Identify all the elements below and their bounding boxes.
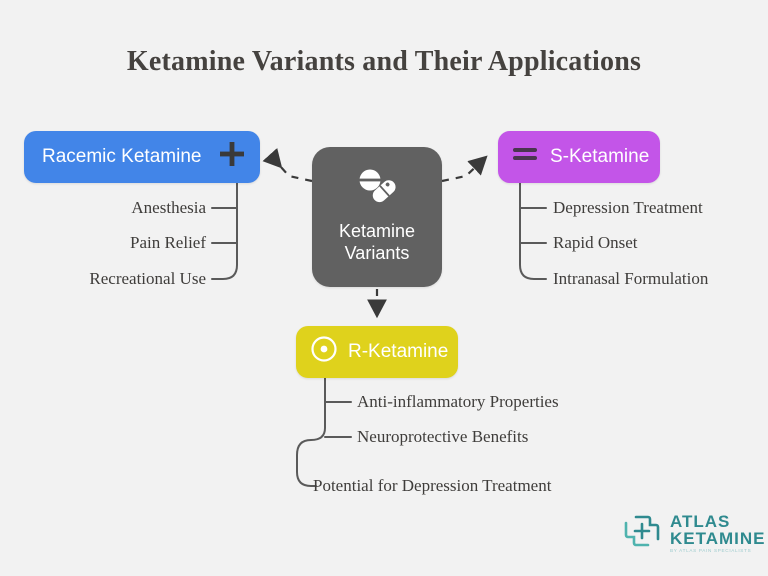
- node-r-ketamine[interactable]: R-Ketamine: [296, 326, 458, 378]
- diagram-canvas: Ketamine Variants and Their Applications…: [0, 0, 768, 576]
- logo-tagline: BY ATLAS PAIN SPECIALISTS: [670, 549, 766, 554]
- pills-icon: [355, 169, 399, 209]
- leaf-s-ketamine-1: Depression Treatment: [553, 198, 703, 218]
- node-ketamine-variants[interactable]: Ketamine Variants: [312, 147, 442, 287]
- edge-center-to-s-ketamine: [442, 157, 486, 181]
- leaf-r-ketamine-3: Potential for Depression Treatment: [313, 476, 551, 496]
- spine-s-ketamine: [520, 183, 546, 279]
- target-dot-icon: [310, 335, 338, 369]
- equals-icon: [512, 145, 538, 169]
- page-title: Ketamine Variants and Their Applications: [0, 46, 768, 78]
- plus-icon: [218, 140, 246, 174]
- leaf-s-ketamine-2: Rapid Onset: [553, 233, 638, 253]
- node-racemic-label: Racemic Ketamine: [42, 146, 218, 168]
- leaf-racemic-1: Anesthesia: [131, 198, 206, 218]
- atlas-cross-icon: [622, 511, 662, 556]
- leaf-r-ketamine-2: Neuroprotective Benefits: [357, 427, 528, 447]
- atlas-ketamine-logo: ATLAS KETAMINE BY ATLAS PAIN SPECIALISTS: [622, 511, 766, 556]
- node-s-ketamine-label: S-Ketamine: [550, 146, 649, 168]
- spine-racemic: [212, 183, 237, 279]
- node-r-ketamine-label: R-Ketamine: [348, 341, 448, 363]
- logo-text: ATLAS KETAMINE BY ATLAS PAIN SPECIALISTS: [670, 513, 766, 554]
- leaf-racemic-2: Pain Relief: [130, 233, 206, 253]
- leaf-r-ketamine-1: Anti-inflammatory Properties: [357, 392, 559, 412]
- logo-line-ketamine: KETAMINE: [670, 530, 766, 547]
- edge-center-to-racemic: [272, 157, 312, 181]
- node-racemic-ketamine[interactable]: Racemic Ketamine: [24, 131, 260, 183]
- leaf-s-ketamine-3: Intranasal Formulation: [553, 269, 708, 289]
- leaf-racemic-3: Recreational Use: [89, 269, 206, 289]
- logo-line-atlas: ATLAS: [670, 513, 766, 530]
- spine-r-ketamine: [297, 378, 325, 486]
- node-s-ketamine[interactable]: S-Ketamine: [498, 131, 660, 183]
- node-center-label: Ketamine Variants: [339, 221, 415, 265]
